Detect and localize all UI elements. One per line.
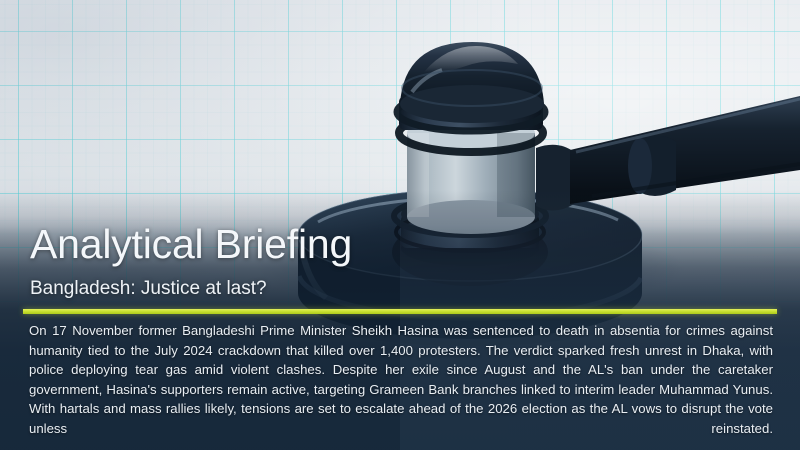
accent-rule-divider <box>23 309 777 314</box>
page-subtitle: Bangladesh: Justice at last? <box>30 277 267 301</box>
briefing-graphic: Analytical Briefing Bangladesh: Justice … <box>0 0 800 450</box>
content-block: Analytical Briefing Bangladesh: Justice … <box>0 0 800 450</box>
body-paragraph: On 17 November former Bangladeshi Prime … <box>29 321 773 450</box>
page-title: Analytical Briefing <box>30 221 352 267</box>
